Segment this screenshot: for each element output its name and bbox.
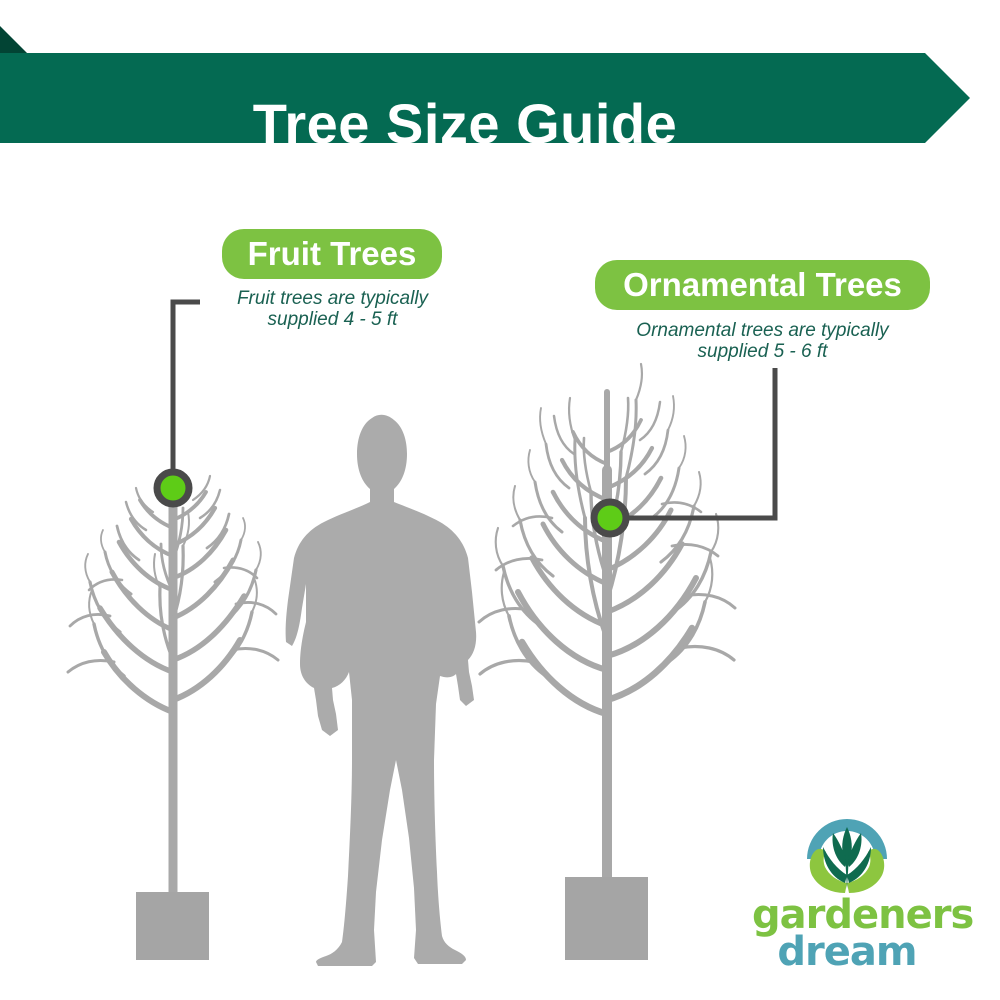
ornamental-tree-pot [565, 877, 648, 960]
fruit-leader-line [173, 302, 200, 488]
gardeners-dream-logo-icon [797, 805, 897, 900]
brand-logo[interactable]: gardeners dream [752, 805, 942, 980]
fruit-tree-illustration [68, 476, 278, 895]
fruit-tree-pot [136, 892, 209, 960]
logo-wordmark: gardeners dream [752, 897, 942, 971]
human-scale-silhouette [286, 415, 477, 966]
ornamental-tree-illustration [479, 364, 735, 880]
fruit-height-marker[interactable] [157, 472, 189, 504]
infographic-canvas: Tree Size Guide Fruit Trees Fruit trees … [0, 0, 1000, 1000]
ornamental-height-marker[interactable] [594, 502, 626, 534]
logo-word-gardeners: gardeners [752, 897, 942, 933]
logo-word-dream: dream [752, 933, 942, 971]
